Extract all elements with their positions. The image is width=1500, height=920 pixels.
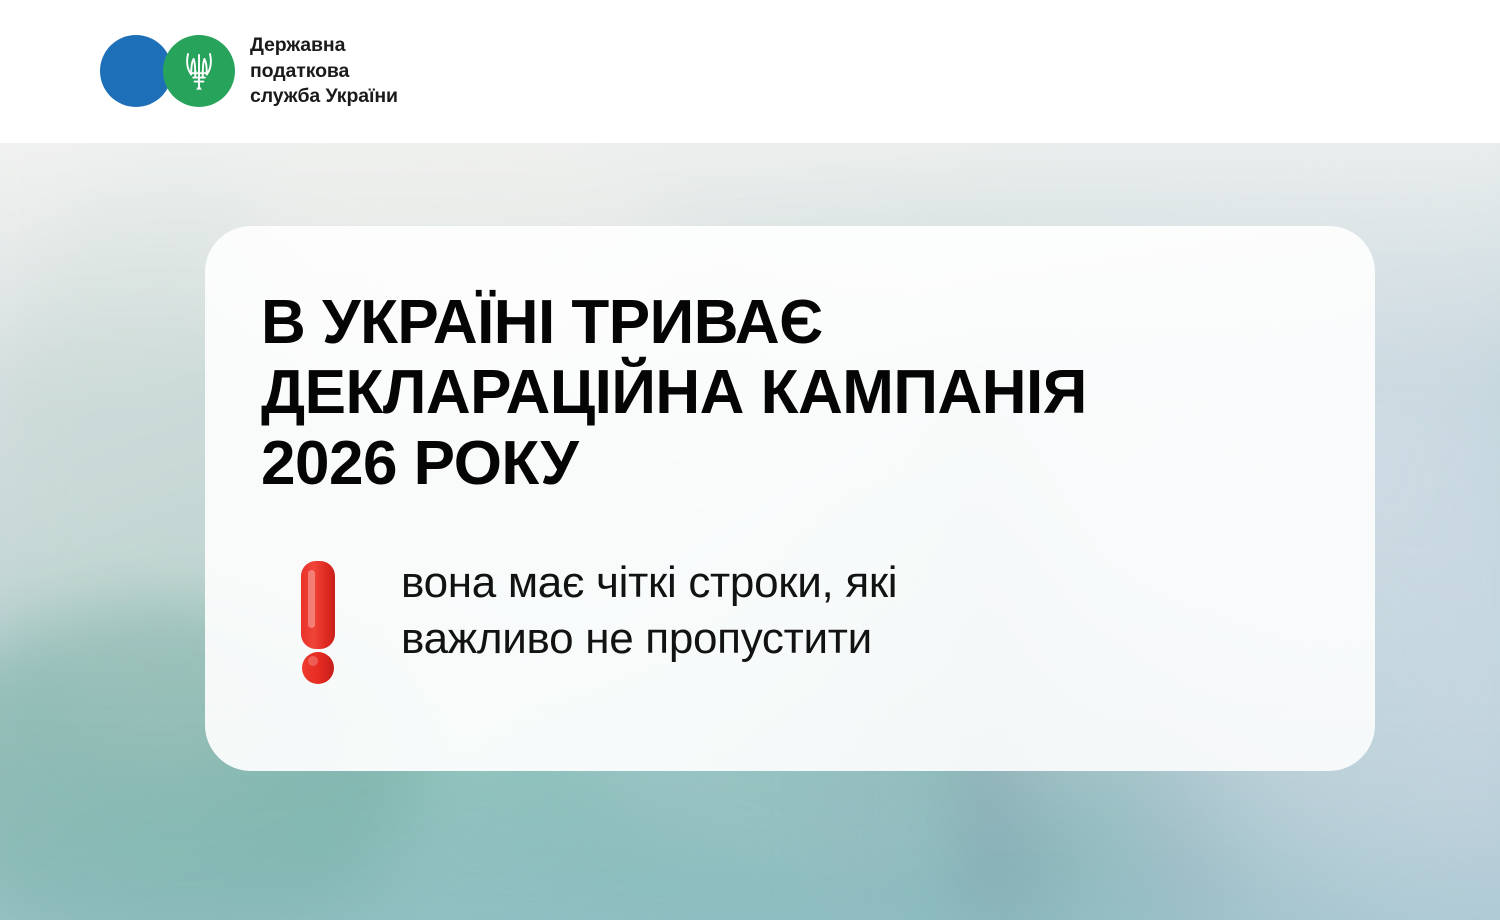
- content-card: В УКРАЇНІ ТРИВАЄ ДЕКЛАРАЦІЙНА КАМПАНІЯ 2…: [205, 226, 1375, 771]
- header-bar: Державна податкова служба України: [0, 0, 1500, 143]
- poster: В УКРАЇНІ ТРИВАЄ ДЕКЛАРАЦІЙНА КАМПАНІЯ 2…: [0, 0, 1500, 920]
- page-subtitle: вона має чіткі строки, які важливо не пр…: [401, 555, 897, 668]
- exclamation-mark-icon: [297, 561, 343, 685]
- page-title: В УКРАЇНІ ТРИВАЄ ДЕКЛАРАЦІЙНА КАМПАНІЯ 2…: [261, 288, 1319, 499]
- organization-name: Державна податкова служба України: [250, 33, 398, 111]
- ukrainian-trident-icon: [182, 49, 216, 93]
- logo-marks: [100, 35, 222, 107]
- subtitle-row: вона має чіткі строки, які важливо не пр…: [261, 555, 1319, 685]
- logo[interactable]: Державна податкова служба України: [100, 33, 398, 111]
- green-circle-icon: [163, 35, 235, 107]
- blue-circle-icon: [100, 35, 172, 107]
